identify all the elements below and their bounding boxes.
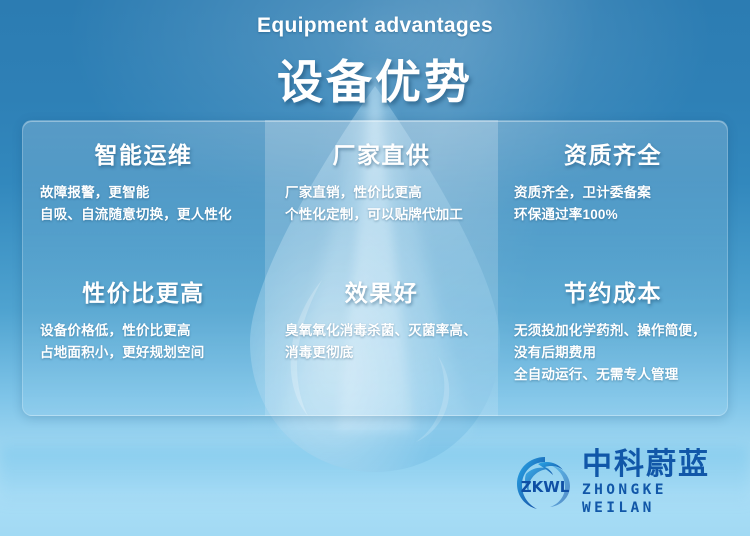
feature-cell-effectiveness: 效果好 臭氧氧化消毒杀菌、灭菌率高、 消毒更彻底 bbox=[265, 266, 498, 412]
dolphin-wave-icon: ZKWL bbox=[514, 454, 576, 512]
feature-title: 资质齐全 bbox=[512, 136, 714, 170]
company-logo: ZKWL 中科蔚蓝 ZHONGKE WEILAN bbox=[514, 452, 740, 514]
feature-lines: 故障报警，更智能 自吸、自流随意切换，更人性化 bbox=[36, 182, 251, 226]
feature-line: 环保通过率100% bbox=[514, 204, 714, 226]
feature-lines: 无须投加化学药剂、操作简便， 没有后期费用 全自动运行、无需专人管理 bbox=[512, 320, 714, 386]
feature-line: 自吸、自流随意切换，更人性化 bbox=[40, 204, 251, 226]
feature-line: 个性化定制，可以贴牌代加工 bbox=[285, 204, 484, 226]
feature-lines: 臭氧氧化消毒杀菌、灭菌率高、 消毒更彻底 bbox=[279, 320, 484, 364]
feature-line: 资质齐全，卫计委备案 bbox=[514, 182, 714, 204]
feature-line: 臭氧氧化消毒杀菌、灭菌率高、 bbox=[285, 320, 484, 342]
feature-cell-factory-direct: 厂家直供 厂家直销，性价比更高 个性化定制，可以贴牌代加工 bbox=[265, 128, 498, 266]
feature-cell-qualifications: 资质齐全 资质齐全，卫计委备案 环保通过率100% bbox=[498, 128, 728, 266]
poster-canvas: Equipment advantages 设备优势 智能运维 故障报警，更智能 … bbox=[0, 0, 750, 536]
feature-cell-cost-saving: 节约成本 无须投加化学药剂、操作简便， 没有后期费用 全自动运行、无需专人管理 bbox=[498, 266, 728, 412]
feature-line: 无须投加化学药剂、操作简便， bbox=[514, 320, 714, 342]
feature-title: 性价比更高 bbox=[36, 274, 251, 308]
feature-title: 智能运维 bbox=[36, 136, 251, 170]
feature-cell-smart-om: 智能运维 故障报警，更智能 自吸、自流随意切换，更人性化 bbox=[22, 128, 265, 266]
feature-line: 故障报警，更智能 bbox=[40, 182, 251, 204]
feature-lines: 设备价格低，性价比更高 占地面积小，更好规划空间 bbox=[36, 320, 251, 364]
features-grid: 智能运维 故障报警，更智能 自吸、自流随意切换，更人性化 厂家直供 厂家直销，性… bbox=[22, 128, 728, 412]
feature-line: 厂家直销，性价比更高 bbox=[285, 182, 484, 204]
feature-title: 节约成本 bbox=[512, 274, 714, 308]
header-english-title: Equipment advantages bbox=[0, 14, 750, 38]
feature-line: 消毒更彻底 bbox=[285, 342, 484, 364]
svg-text:ZKWL: ZKWL bbox=[521, 478, 570, 496]
feature-cell-cost-performance: 性价比更高 设备价格低，性价比更高 占地面积小，更好规划空间 bbox=[22, 266, 265, 412]
feature-line: 没有后期费用 bbox=[514, 342, 714, 364]
feature-line: 全自动运行、无需专人管理 bbox=[514, 364, 714, 386]
feature-line: 占地面积小，更好规划空间 bbox=[40, 342, 251, 364]
logo-pinyin-name: ZHONGKE WEILAN bbox=[582, 481, 740, 517]
page-title: 设备优势 bbox=[0, 46, 750, 112]
feature-line: 设备价格低，性价比更高 bbox=[40, 320, 251, 342]
logo-wordmark: 中科蔚蓝 ZHONGKE WEILAN bbox=[582, 449, 740, 517]
logo-chinese-name: 中科蔚蓝 bbox=[582, 449, 740, 481]
feature-lines: 资质齐全，卫计委备案 环保通过率100% bbox=[512, 182, 714, 226]
header: Equipment advantages 设备优势 bbox=[0, 14, 750, 112]
feature-title: 厂家直供 bbox=[279, 136, 484, 170]
feature-lines: 厂家直销，性价比更高 个性化定制，可以贴牌代加工 bbox=[279, 182, 484, 226]
feature-title: 效果好 bbox=[279, 274, 484, 308]
